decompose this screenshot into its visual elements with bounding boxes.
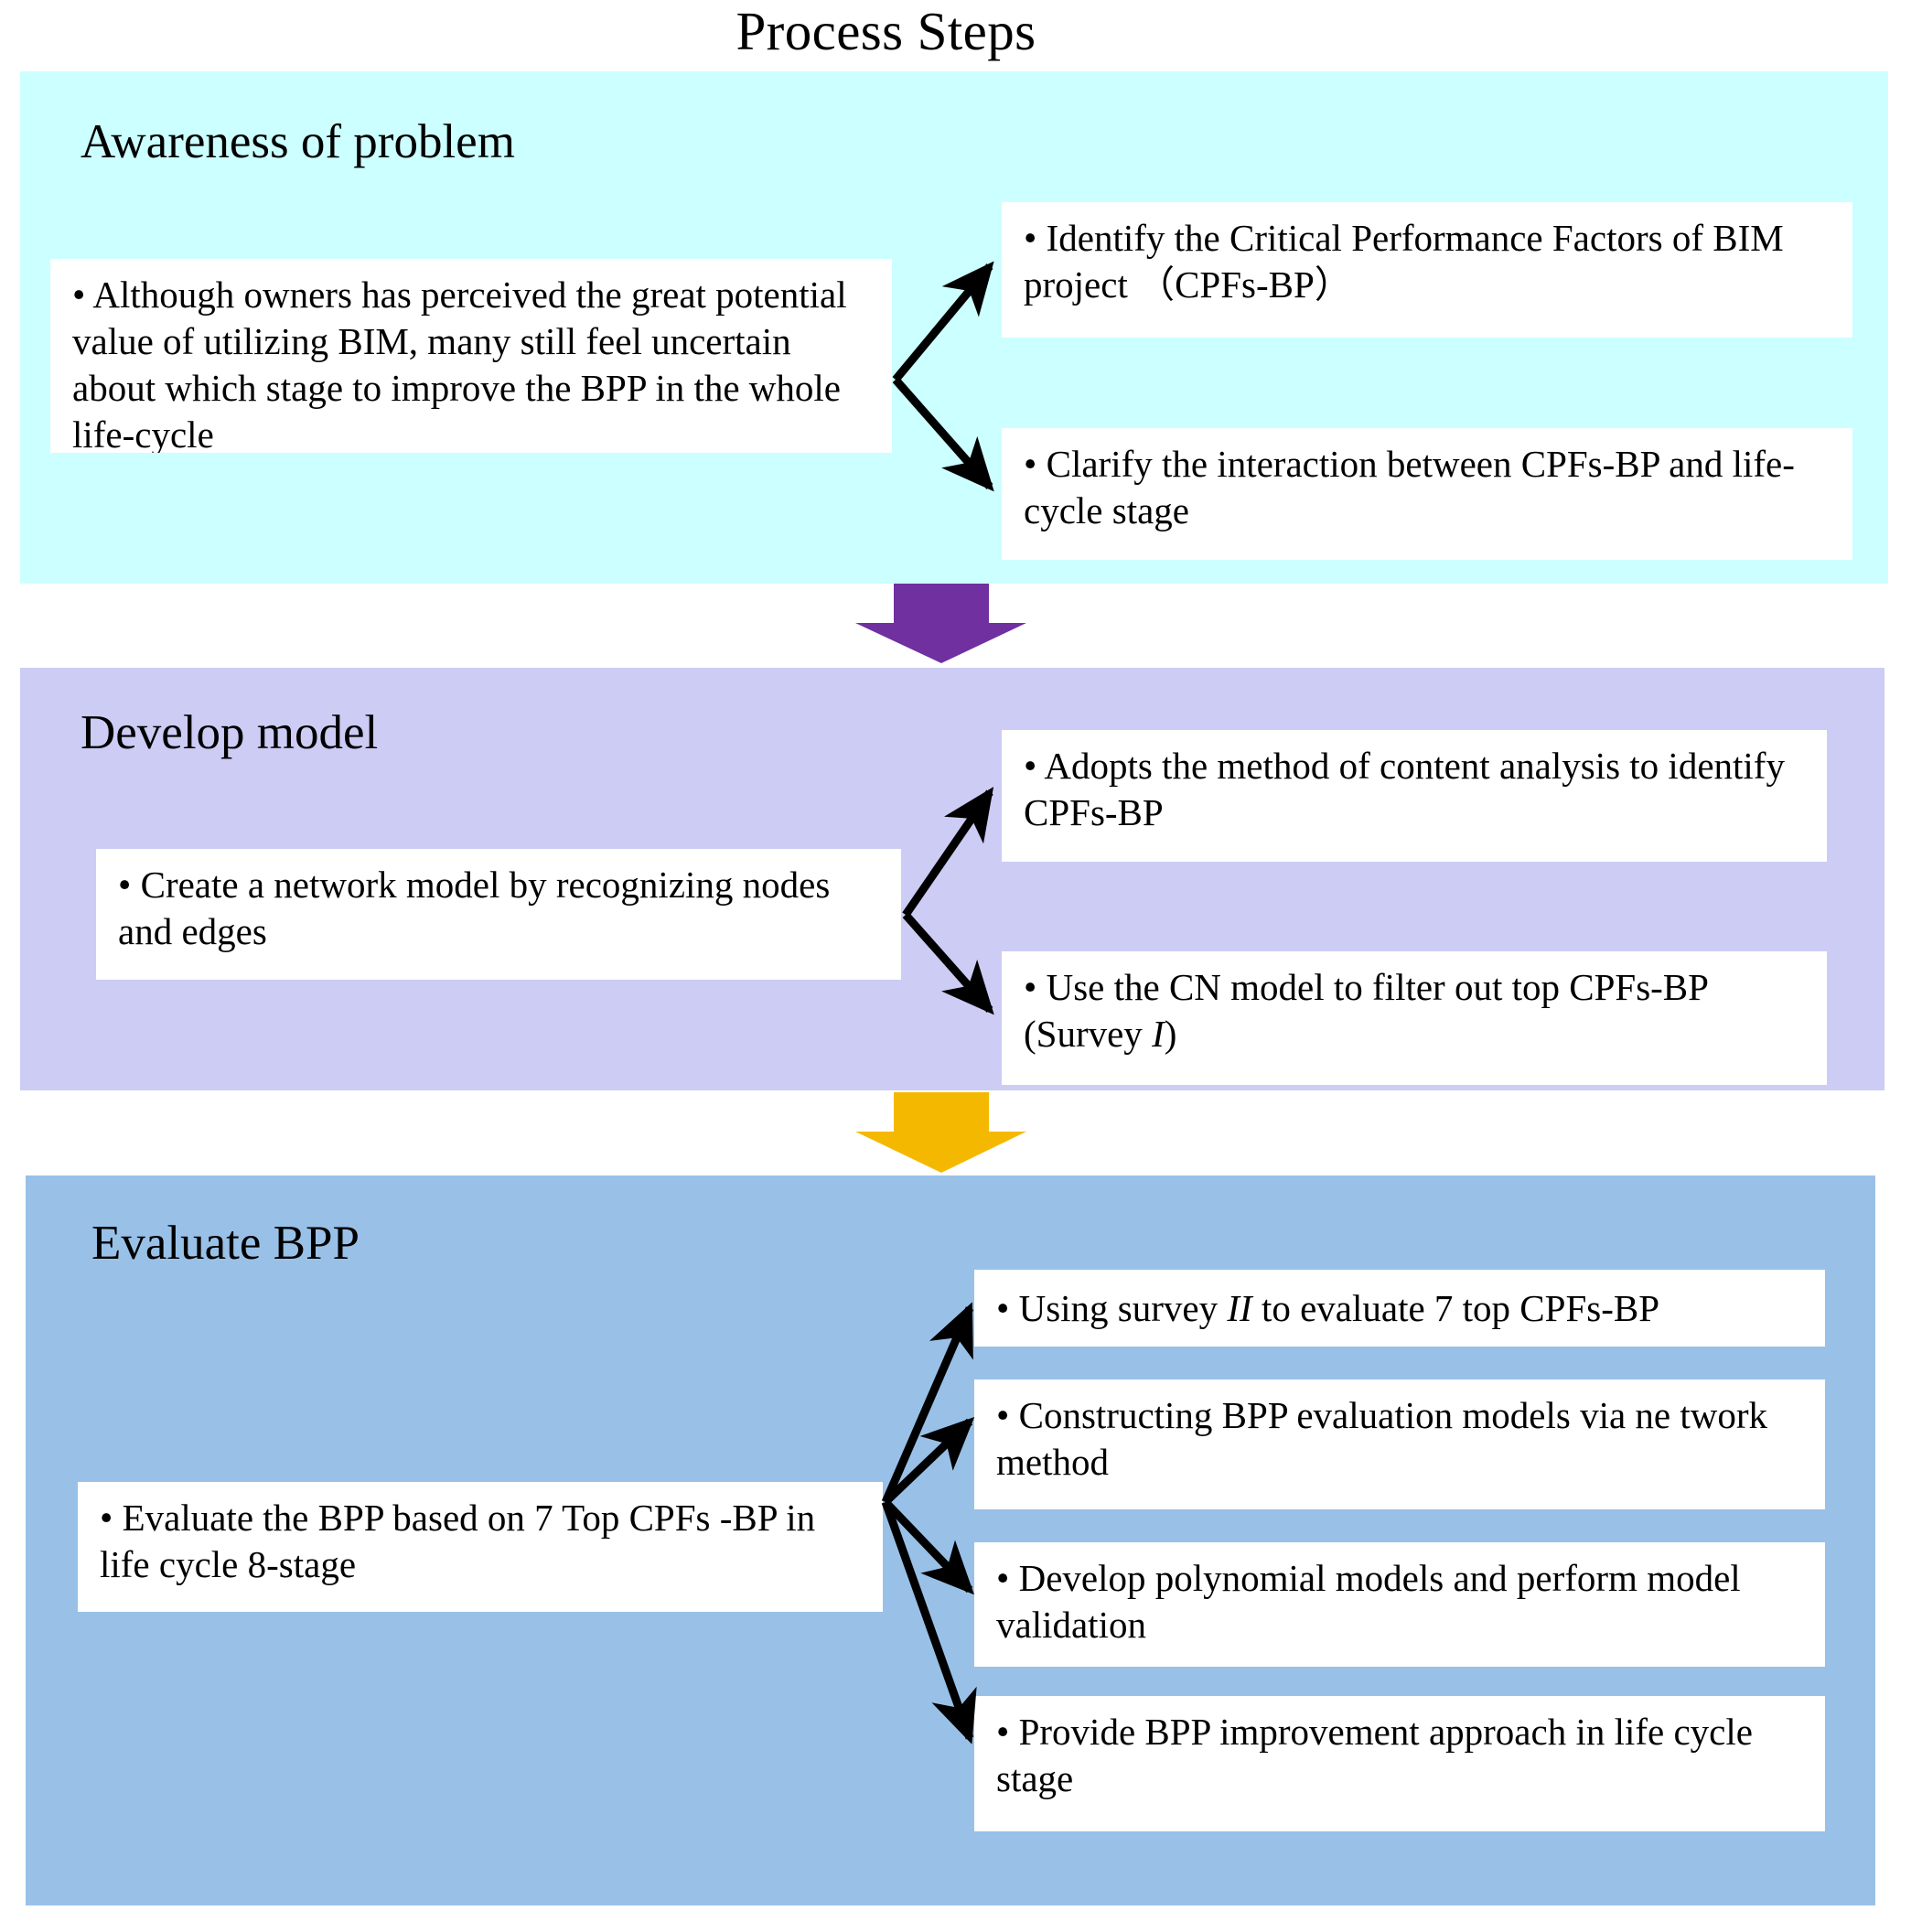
- evaluate-output-box-1: • Using survey II to evaluate 7 top CPFs…: [974, 1270, 1825, 1347]
- evaluate-output-box-2: • Constructing BPP evaluation models via…: [974, 1379, 1825, 1509]
- awareness-output-text-2: • Clarify the interaction between CPFs-B…: [1024, 441, 1836, 534]
- awareness-problem-box: • Although owners has perceived the grea…: [50, 259, 892, 453]
- evaluate-problem-text: • Evaluate the BPP based on 7 Top CPFs -…: [100, 1495, 866, 1588]
- awareness-output-text-1: • Identify the Critical Performance Fact…: [1024, 215, 1836, 308]
- page-title-text: Process Steps: [736, 1, 1036, 61]
- survey-numeral: II: [1227, 1287, 1251, 1329]
- evaluate-output-text-3: • Develop polynomial models and perform …: [996, 1555, 1809, 1648]
- develop-problem-box: • Create a network model by recognizing …: [96, 849, 901, 980]
- develop-output-text-2: • Use the CN model to filter out top CPF…: [1024, 964, 1810, 1057]
- awareness-output-box-1: • Identify the Critical Performance Fact…: [1002, 202, 1852, 338]
- awareness-problem-text: • Although owners has perceived the grea…: [72, 272, 875, 453]
- develop-problem-text: • Create a network model by recognizing …: [118, 862, 885, 955]
- evaluate-problem-box: • Evaluate the BPP based on 7 Top CPFs -…: [78, 1482, 883, 1612]
- stage-title-evaluate: Evaluate BPP: [91, 1217, 360, 1270]
- evaluate-output-text-2: • Constructing BPP evaluation models via…: [996, 1392, 1809, 1486]
- process-steps-figure: Process Steps Awareness of problem • Alt…: [0, 0, 1922, 1932]
- survey-numeral: I: [1152, 1013, 1165, 1055]
- evaluate-output-box-4: • Provide BPP improvement approach in li…: [974, 1696, 1825, 1831]
- develop-output-box-2: • Use the CN model to filter out top CPF…: [1002, 951, 1827, 1085]
- develop-output-text-1: • Adopts the method of content analysis …: [1024, 743, 1810, 836]
- develop-output-box-1: • Adopts the method of content analysis …: [1002, 730, 1827, 862]
- stage-title-develop: Develop model: [81, 706, 378, 759]
- awareness-output-box-2: • Clarify the interaction between CPFs-B…: [1002, 428, 1852, 560]
- yellow-down-arrow: [855, 1092, 1026, 1173]
- evaluate-output-text-4: • Provide BPP improvement approach in li…: [996, 1709, 1809, 1802]
- purple-down-arrow: [855, 584, 1026, 663]
- evaluate-output-text-1: • Using survey II to evaluate 7 top CPFs…: [996, 1285, 1659, 1332]
- evaluate-output-box-3: • Develop polynomial models and perform …: [974, 1542, 1825, 1667]
- page-title: Process Steps: [0, 2, 1922, 60]
- stage-title-awareness: Awareness of problem: [81, 115, 515, 168]
